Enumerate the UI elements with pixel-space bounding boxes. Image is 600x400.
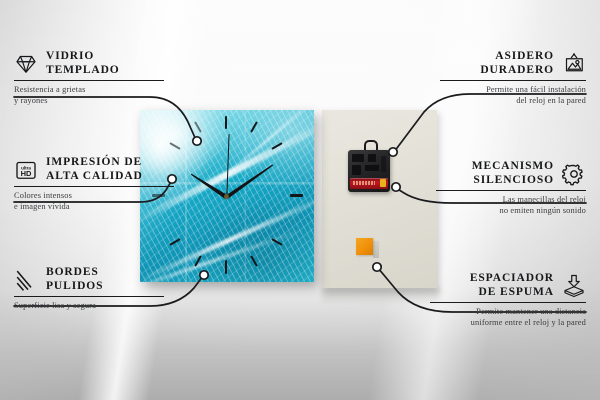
- feature-title-line1: VIDRIO: [46, 50, 120, 64]
- feature-title-line2: SILENCIOSO: [472, 174, 554, 188]
- feature-rule: [440, 80, 586, 81]
- feature-desc-line1: Colores intensos: [14, 191, 174, 202]
- feature-title-line2: PULIDOS: [46, 280, 103, 294]
- feature-desc-line2: uniforme entre el reloj y la pared: [430, 318, 586, 329]
- feature-desc-line1: Permite mantener una distancia: [430, 307, 586, 318]
- feature-header: ASIDERO DURADERO: [440, 50, 586, 77]
- feature-desc-line1: Las manecillas del reloj: [436, 195, 586, 206]
- feature-desc-line2: e imagen vívida: [14, 202, 174, 213]
- diamond-icon: [14, 52, 38, 76]
- movement-detail: [368, 154, 376, 162]
- feature-header: ESPACIADOR DE ESPUMA: [430, 272, 586, 299]
- feature-asidero-duradero: ASIDERO DURADERO Permite una fácil insta…: [440, 50, 586, 107]
- feature-espaciador-de-espuma: ESPACIADOR DE ESPUMA Permite mantener un…: [430, 272, 586, 329]
- feature-title-line2: DE ESPUMA: [470, 286, 554, 300]
- battery-label: [353, 181, 375, 185]
- clock-tick: [290, 194, 303, 197]
- feature-rule: [430, 302, 586, 303]
- gear-icon: [562, 162, 586, 186]
- movement-detail: [352, 154, 364, 162]
- feature-title-line1: BORDES: [46, 266, 103, 280]
- feature-title-line2: TEMPLADO: [46, 64, 120, 78]
- polished-edges-icon: [14, 268, 38, 292]
- wall-shadow: [322, 288, 440, 304]
- feature-header: BORDES PULIDOS: [14, 266, 164, 293]
- clock-center-hub: [224, 194, 229, 199]
- feature-header: MECANISMO SILENCIOSO: [436, 160, 586, 187]
- feature-title-line1: MECANISMO: [472, 160, 554, 174]
- feature-vidrio-templado: VIDRIO TEMPLADO Resistencia a grietas y …: [14, 50, 164, 107]
- foam-spacer-arrow-icon: [562, 274, 586, 298]
- feature-rule: [436, 190, 586, 191]
- feature-rule: [14, 296, 164, 297]
- clock-movement-box: [348, 150, 390, 192]
- foam-spacer-side: [373, 241, 379, 258]
- feature-rule: [14, 80, 164, 81]
- infographic-stage: VIDRIO TEMPLADO Resistencia a grietas y …: [0, 0, 600, 400]
- clock-tick: [225, 260, 227, 274]
- clock-battery: [350, 178, 388, 189]
- feature-bordes-pulidos: BORDES PULIDOS Superficie lisa y segura: [14, 266, 164, 312]
- foam-spacer: [356, 238, 373, 255]
- feature-rule: [14, 186, 174, 187]
- feature-mecanismo-silencioso: MECANISMO SILENCIOSO Las manecillas del …: [436, 160, 586, 217]
- movement-detail: [365, 165, 379, 171]
- feature-title-line1: ASIDERO: [480, 50, 554, 64]
- movement-detail: [381, 156, 386, 172]
- movement-detail: [352, 165, 361, 175]
- feature-desc-line1: Resistencia a grietas: [14, 85, 164, 96]
- feature-title-line1: ESPACIADOR: [470, 272, 554, 286]
- feature-header: ultra HD IMPRESIÓN DE ALTA CALIDAD: [14, 156, 174, 183]
- feature-title-line2: DURADERO: [480, 64, 554, 78]
- clock-tick: [225, 116, 227, 129]
- wall-panel: [322, 110, 437, 288]
- feature-desc-line1: Superficie lisa y segura: [14, 301, 164, 312]
- feature-impresion-alta-calidad: ultra HD IMPRESIÓN DE ALTA CALIDAD Color…: [14, 156, 174, 213]
- feature-title-line2: ALTA CALIDAD: [46, 170, 143, 184]
- feature-desc-line2: no emiten ningún sonido: [436, 206, 586, 217]
- feature-title-line1: IMPRESIÓN DE: [46, 156, 143, 170]
- feature-header: VIDRIO TEMPLADO: [14, 50, 164, 77]
- battery-positive-terminal: [380, 179, 386, 187]
- framed-picture-hook-icon: [562, 52, 586, 76]
- feature-desc-line2: y rayones: [14, 96, 164, 107]
- feature-desc-line1: Permite una fácil instalación: [440, 85, 586, 96]
- feature-desc-line2: del reloj en la pared: [440, 96, 586, 107]
- ultra-hd-icon: ultra HD: [14, 158, 38, 182]
- svg-text:HD: HD: [21, 169, 32, 178]
